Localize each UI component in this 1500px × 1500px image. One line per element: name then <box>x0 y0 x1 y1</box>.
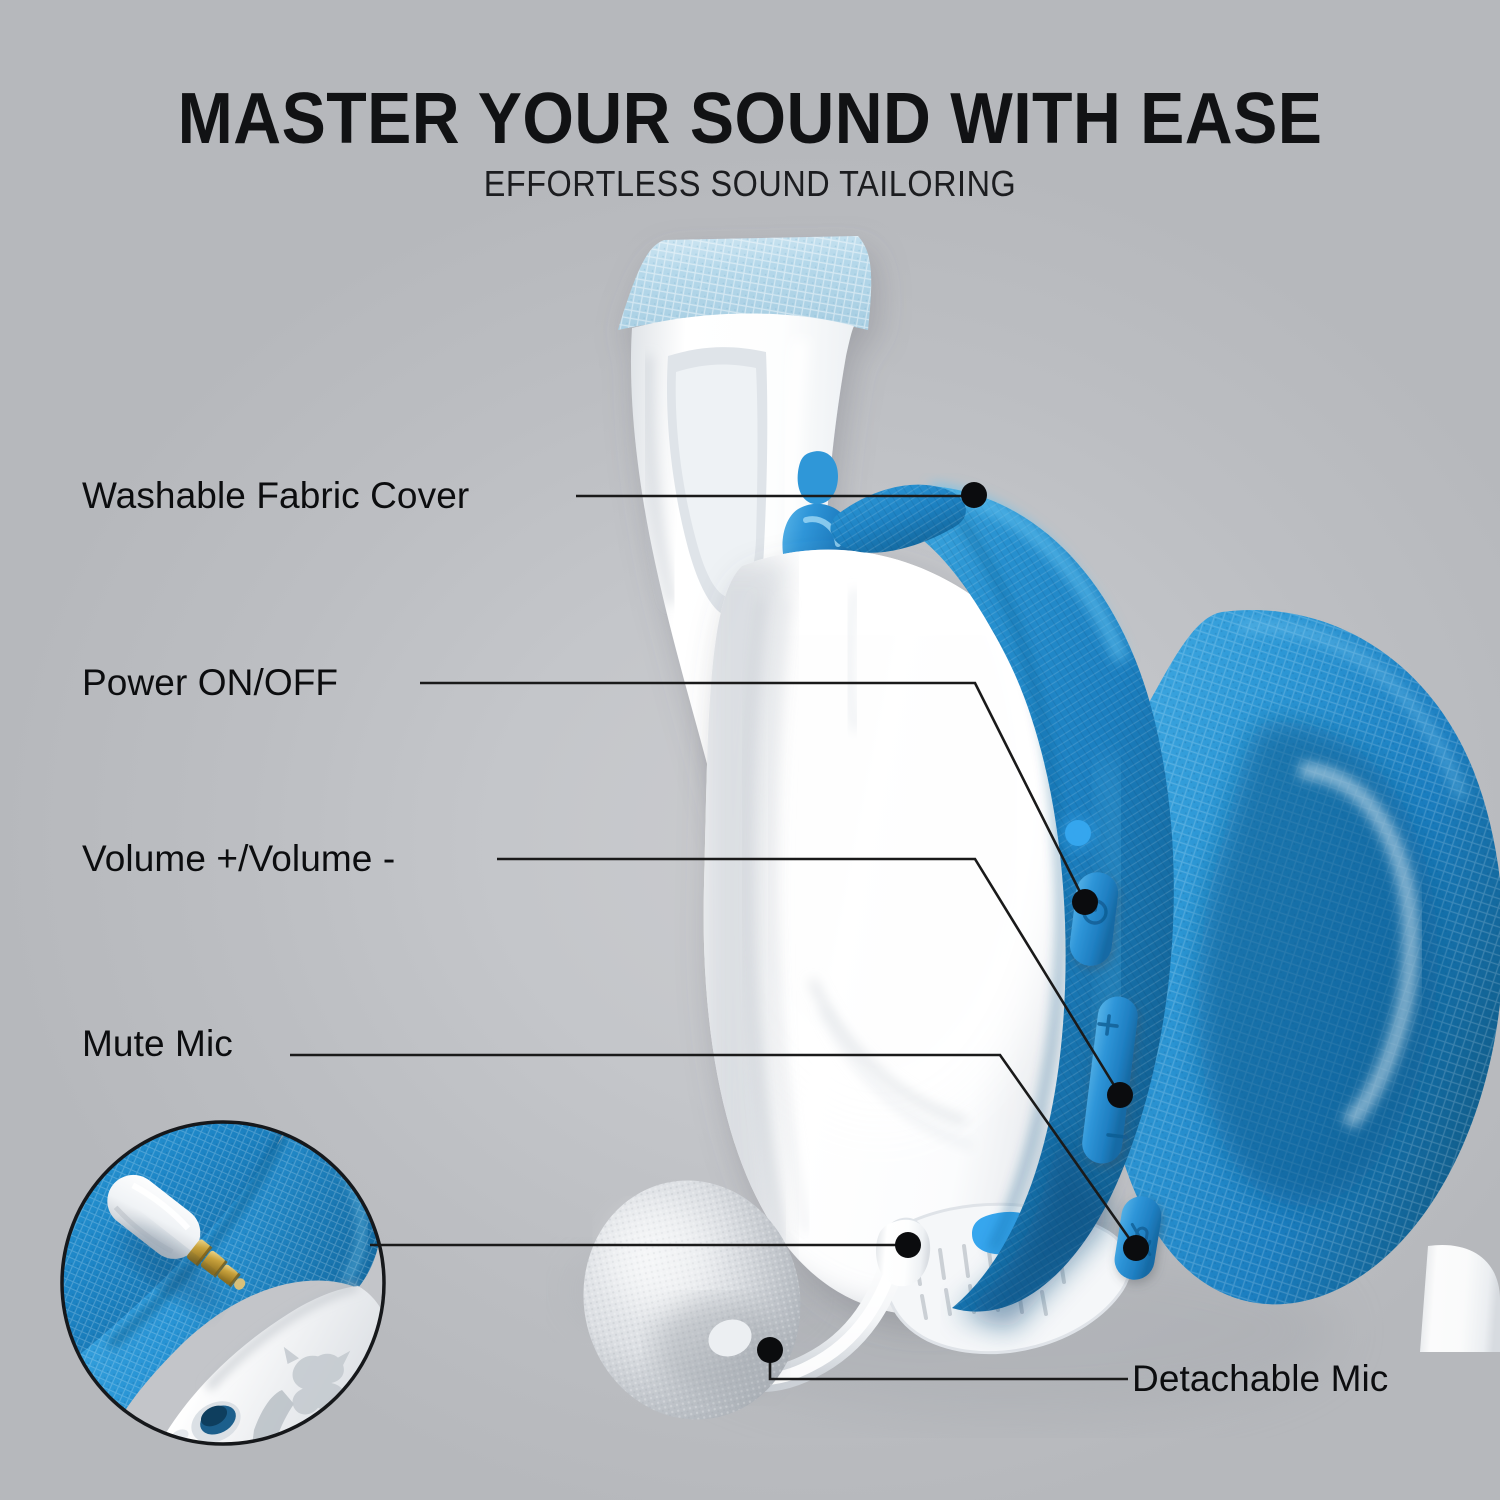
callout-label-washable-fabric-cover: Washable Fabric Cover <box>82 475 469 517</box>
callout-label-mute-mic: Mute Mic <box>82 1023 233 1065</box>
infographic-canvas: MASTER YOUR SOUND WITH EASE EFFORTLESS S… <box>0 0 1500 1500</box>
callout-label-power-on-off: Power ON/OFF <box>82 662 338 704</box>
callout-label-volume-up-down: Volume +/Volume - <box>82 838 395 880</box>
aux-jack-inset <box>58 1118 388 1448</box>
page-title: MASTER YOUR SOUND WITH EASE <box>60 78 1440 160</box>
page-subtitle: EFFORTLESS SOUND TAILORING <box>75 163 1425 205</box>
callout-label-detachable-mic: Detachable Mic <box>1132 1358 1388 1400</box>
